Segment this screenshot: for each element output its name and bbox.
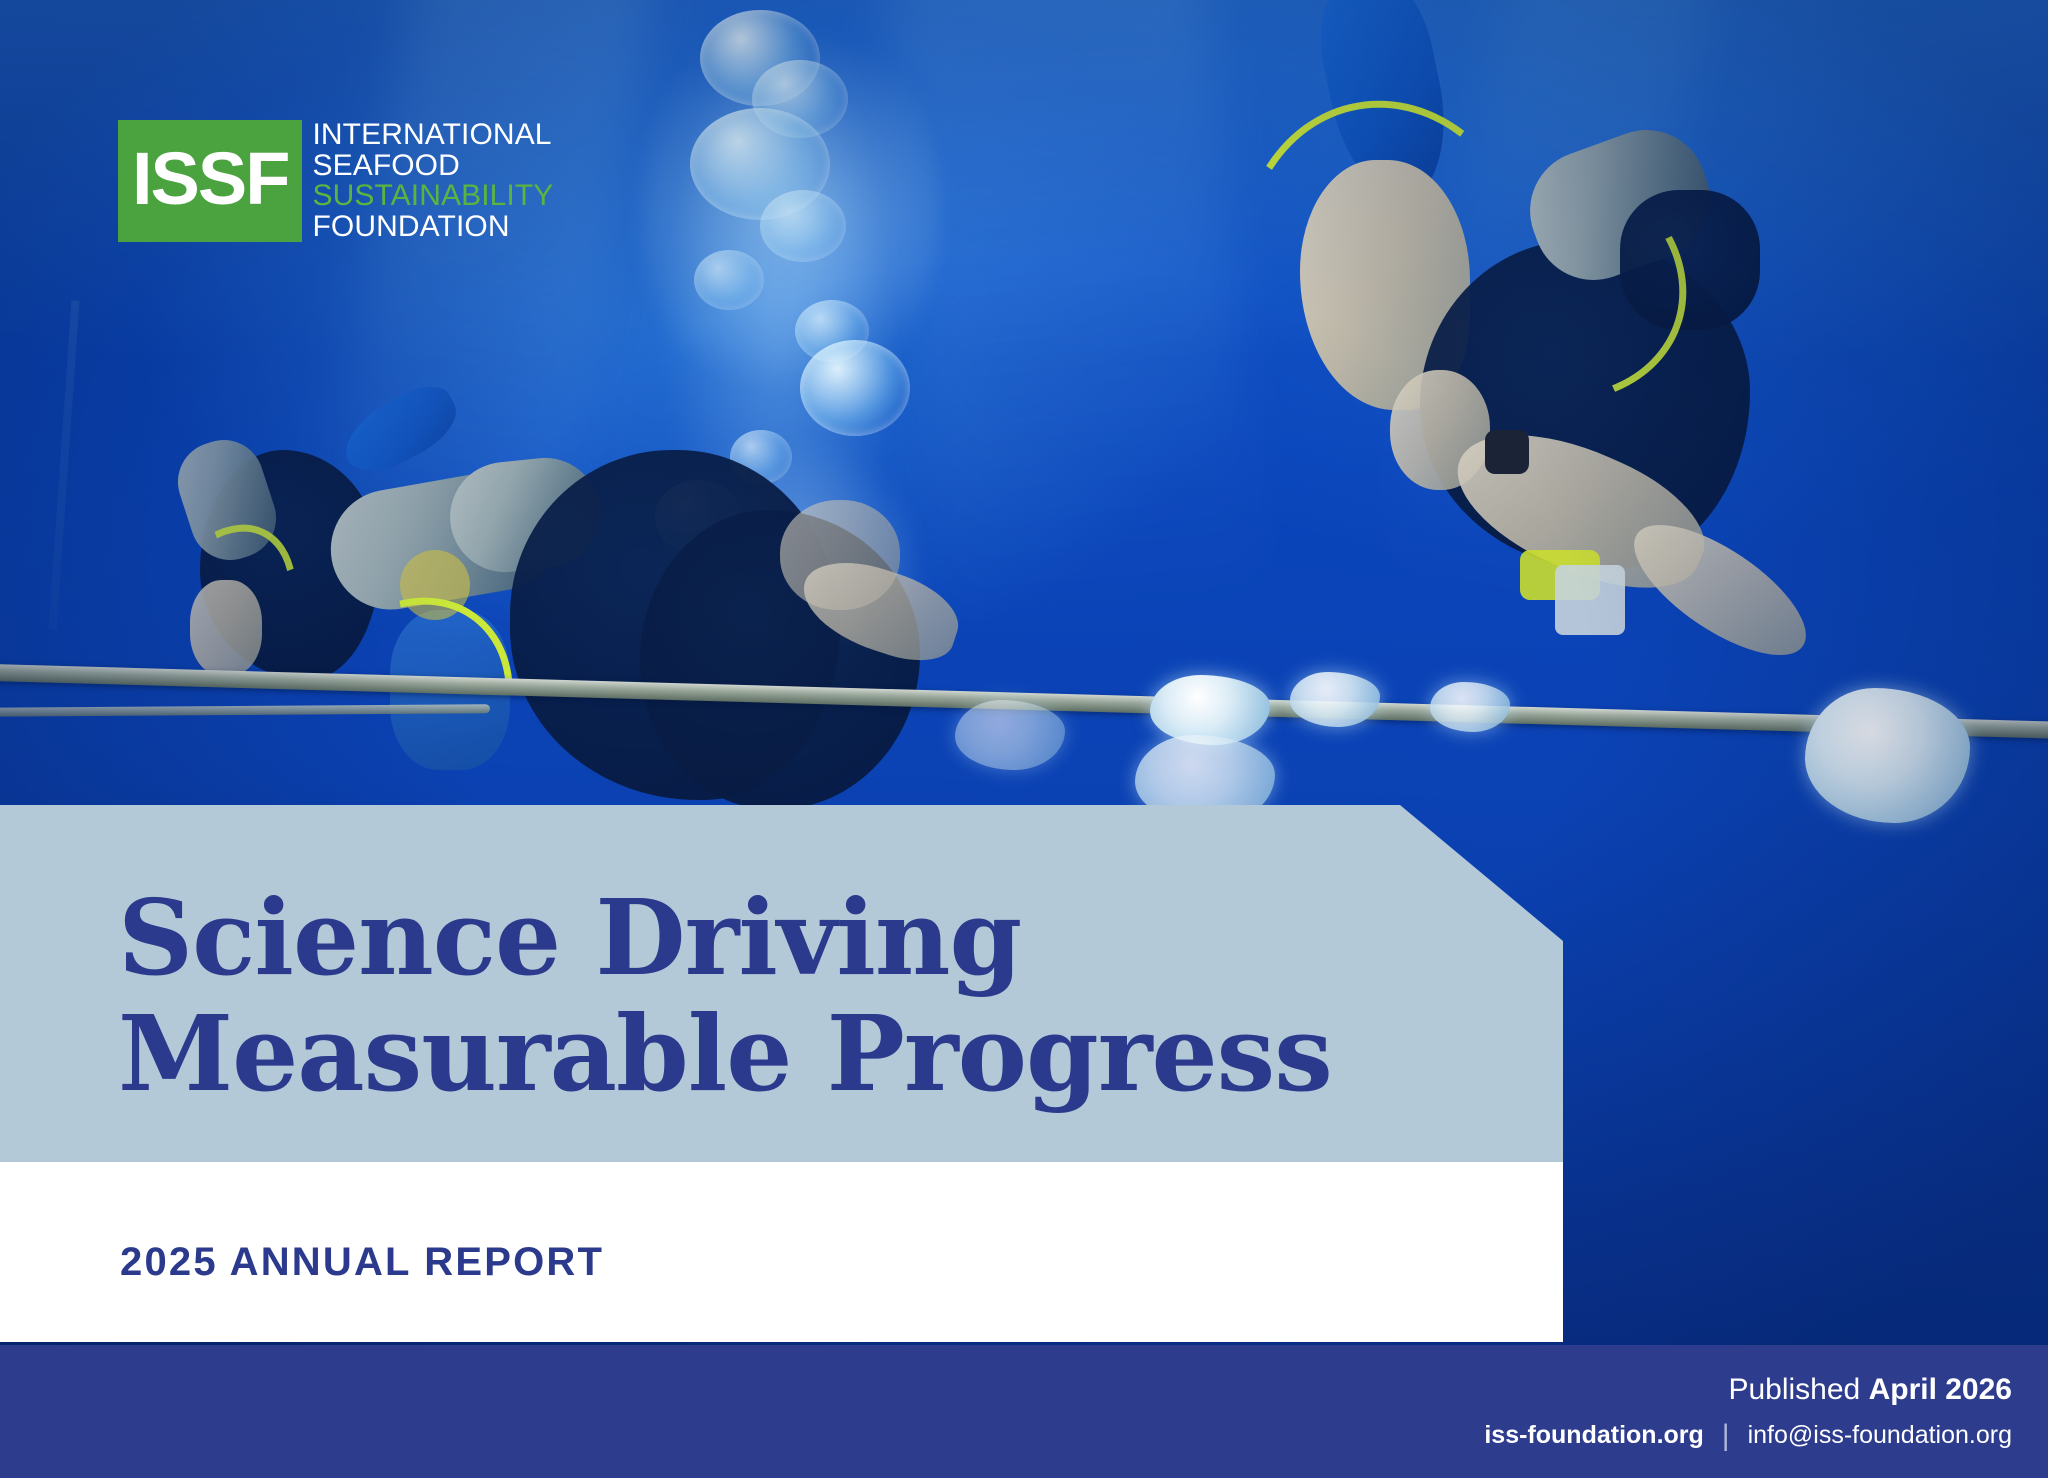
logo-line-international: INTERNATIONAL [312,120,553,151]
issf-logo[interactable]: ISSF INTERNATIONAL SEAFOOD SUSTAINABILIT… [118,120,553,242]
cover-subtitle: 2025 ANNUAL REPORT [120,1240,604,1285]
cover-title: Science Driving Measurable Progress [118,880,1332,1113]
footer-links: iss-foundation.org | info@iss-foundation… [1484,1421,2012,1451]
logo-line-sustainability: SUSTAINABILITY [312,181,553,212]
logo-line-foundation: FOUNDATION [312,212,553,243]
issf-logo-mark: ISSF [118,120,302,242]
report-cover: ISSF INTERNATIONAL SEAFOOD SUSTAINABILIT… [0,0,2048,1478]
issf-logo-wordmark: INTERNATIONAL SEAFOOD SUSTAINABILITY FOU… [302,120,553,242]
logo-line-seafood: SEAFOOD [312,151,553,182]
published-date: April 2026 [1869,1373,2012,1406]
cover-footer: Published April 2026 iss-foundation.org … [0,1345,2048,1478]
issf-logo-acronym: ISSF [132,145,288,213]
email-link[interactable]: info@iss-foundation.org [1748,1421,2012,1450]
website-link[interactable]: iss-foundation.org [1484,1421,1703,1450]
footer-separator: | [1722,1421,1730,1451]
published-label: Published [1728,1373,1860,1406]
published-line: Published April 2026 [1728,1373,2012,1407]
